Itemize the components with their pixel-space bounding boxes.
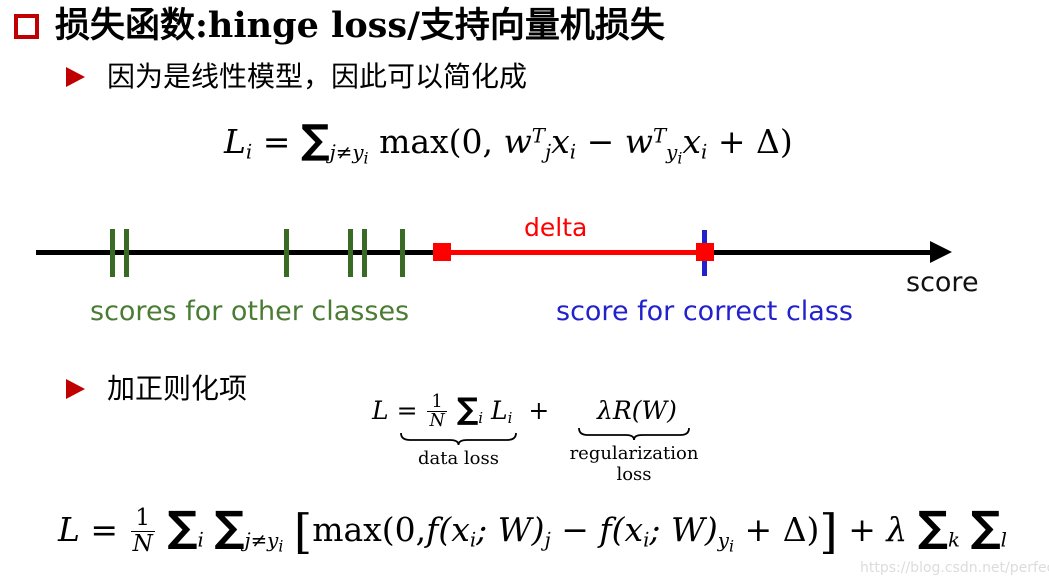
formula2-equals: = (397, 396, 418, 425)
formula3-sum2-sub-text: j≠y (244, 529, 278, 552)
summation-icon: ∑ (214, 502, 244, 551)
other-classes-legend-label: scores for other classes (90, 296, 409, 327)
formula3-f2-index-text: y (718, 529, 729, 552)
formula1-w1-sup: T (532, 125, 545, 148)
formula1-sum-sub-sub: i (364, 148, 369, 167)
formula3-equals: = (90, 510, 118, 549)
arrow-bullet-icon (66, 379, 85, 399)
summation-icon: ∑ (970, 502, 1000, 551)
formula2-term-sub: i (508, 409, 513, 427)
formula3-plus: + (745, 510, 773, 549)
formula3-open-bracket: [ (294, 506, 312, 560)
regularization-loss-label: regularization loss (555, 443, 713, 485)
delta-margin-segment (440, 250, 706, 255)
x-axis-label: score (906, 267, 979, 298)
bullet-item-2: 加正则化项 (66, 372, 247, 406)
square-bullet-icon (14, 14, 39, 39)
formula3-f1: f(x (426, 510, 470, 549)
formula3-sum2-sub: j≠yi (244, 529, 283, 552)
other-class-tick (400, 229, 405, 277)
formula3-sum4-sub: l (1001, 529, 1007, 552)
formula1-equals: = (263, 122, 291, 161)
formula-full-objective: L = 1N ∑i ∑j≠yi [max(0,f(xi; W)j − f(xi;… (58, 502, 1007, 560)
formula3-f2-tail: ; W) (649, 510, 717, 549)
page-title: 损失函数:hinge loss/支持向量机损失 (55, 4, 665, 48)
formula-hinge-per-example: Li = ∑j≠yi max(0, wTjxi − wTyixi + Δ) (224, 117, 793, 163)
delta-label: delta (524, 213, 587, 242)
margin-end-marker (696, 243, 714, 261)
formula1-minus: − (587, 122, 615, 161)
margin-start-marker (433, 243, 451, 261)
formula2-plus: + (528, 396, 549, 425)
formula3-minus: − (561, 510, 589, 549)
formula3-lhs: L (58, 510, 80, 549)
data-loss-label: data loss (400, 448, 517, 469)
other-class-tick (110, 229, 115, 277)
formula3-close-paren: ) (807, 510, 820, 549)
other-class-tick (362, 229, 367, 277)
other-class-tick (124, 229, 129, 277)
formula3-fraction: 1N (131, 506, 155, 556)
slide-title-row: 损失函数:hinge loss/支持向量机损失 (14, 4, 665, 48)
correct-class-legend-label: score for correct class (556, 296, 853, 327)
formula3-f1-tail: ; W) (476, 510, 544, 549)
summation-icon: ∑ (918, 502, 948, 551)
formula1-delta: Δ (756, 122, 780, 161)
summation-icon: ∑ (301, 117, 330, 163)
regularization-loss-underbrace-icon (578, 427, 690, 441)
score-line-chart: delta score scores for other classes sco… (0, 205, 1049, 335)
summation-icon: ∑ (167, 502, 197, 551)
formula2-frac-numerator: 1 (427, 393, 446, 413)
formula1-w1: w (504, 122, 532, 161)
formula2-lhs: L (372, 396, 389, 425)
formula3-f1-index: j (545, 529, 551, 552)
formula1-x1-sub: i (570, 141, 576, 164)
formula3-frac-denominator: N (131, 532, 155, 556)
bullet-item-1: 因为是线性模型，因此可以简化成 (66, 60, 527, 94)
data-loss-underbrace-icon (400, 432, 517, 446)
formula2-term: L (491, 396, 508, 425)
formula3-sum2-sub-sub: i (278, 536, 283, 555)
axis-arrow-icon (930, 241, 952, 263)
formula1-sum-sub-text: j≠y (330, 141, 364, 164)
formula3-max: max(0, (312, 510, 426, 549)
formula3-plus2: + (848, 510, 876, 549)
formula1-sum-sub: j≠yi (330, 141, 369, 164)
formula-total-loss: L = 1N ∑i Li + λR(W) (372, 392, 677, 431)
formula2-lambda: λ (597, 396, 613, 425)
formula1-w2-sub: yi (666, 141, 682, 164)
formula3-close-bracket: ] (819, 506, 837, 560)
bullet-item-1-label: 因为是线性模型，因此可以简化成 (107, 60, 527, 94)
formula3-delta: Δ (783, 510, 807, 549)
formula1-lhs-sub: i (246, 141, 252, 164)
formula2-frac-denominator: N (427, 412, 446, 431)
formula1-w2: w (625, 122, 653, 161)
formula1-x2: x (682, 122, 701, 161)
formula1-x1: x (551, 122, 570, 161)
formula1-lhs: L (224, 122, 246, 161)
formula2-fraction: 1N (427, 393, 446, 431)
watermark-text: https://blog.csdn.net/perfectlt (860, 560, 1049, 576)
bullet-item-2-label: 加正则化项 (107, 372, 247, 406)
formula2-reg-term: R(W) (613, 396, 677, 425)
formula1-max: max(0, (379, 122, 493, 161)
formula1-plus: + (718, 122, 746, 161)
arrow-bullet-icon (66, 67, 85, 87)
formula1-close-paren: ) (780, 122, 793, 161)
formula3-f2-index-sub: i (729, 536, 734, 555)
formula3-f2-index: yi (718, 529, 734, 552)
formula3-sum1-sub: i (197, 529, 203, 552)
formula3-frac-numerator: 1 (131, 506, 155, 531)
summation-icon: ∑ (457, 392, 479, 427)
formula3-sum3-sub: k (948, 529, 960, 552)
formula3-f2: f(x (599, 510, 643, 549)
formula2-sum-sub: i (478, 409, 483, 427)
formula1-x2-sub: i (701, 141, 707, 164)
other-class-tick (284, 229, 289, 277)
formula1-w2-sup: T (653, 125, 666, 148)
formula3-lambda: λ (886, 510, 907, 549)
other-class-tick (348, 229, 353, 277)
formula1-w2-sub-text: y (666, 141, 677, 164)
